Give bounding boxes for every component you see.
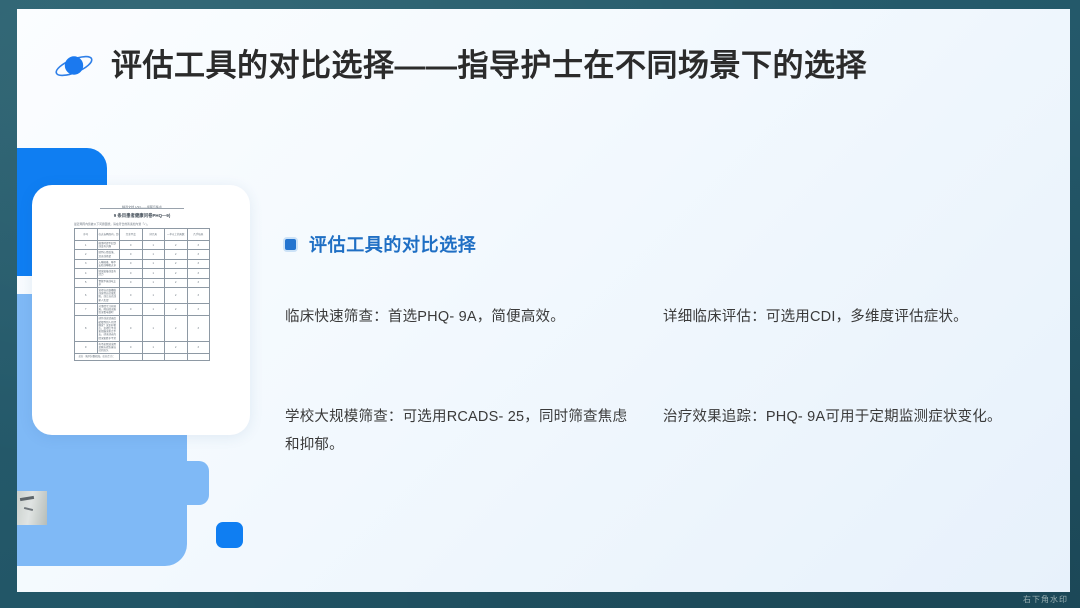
- thumbnail-cell-score: 0: [120, 316, 143, 341]
- thumbnail-cell-index: 3: [75, 259, 98, 268]
- thumbnail-cell-score: 0: [120, 250, 143, 259]
- planet-orbit-icon: [53, 49, 95, 83]
- section-heading: 评估工具的对比选择: [309, 231, 476, 257]
- thumbnail-cell-score: 1: [142, 316, 165, 341]
- thumbnail-cell-score: 3: [187, 241, 210, 250]
- thumbnail-col-s2: 一半以上的天数: [165, 229, 188, 241]
- point-clinical-screening: 临床快速筛查：首选PHQ- 9A，简便高效。: [285, 303, 637, 331]
- thumbnail-cell-score: 3: [187, 278, 210, 287]
- content-column: 评估工具的对比选择 临床快速筛查：首选PHQ- 9A，简便高效。 详细临床评估：…: [285, 231, 1045, 459]
- thumbnail-cell-score: 0: [120, 269, 143, 278]
- thumbnail-cell-score: 0: [120, 278, 143, 287]
- thumbnail-cell-score: 2: [165, 303, 188, 316]
- thumbnail-table-row: 9有不如死掉或用某种方式伤害自己的念头0123: [75, 341, 210, 354]
- thumbnail-cell-score: 2: [165, 241, 188, 250]
- thumbnail-cell-score: 2: [165, 269, 188, 278]
- thumbnail-cell-score: 3: [187, 303, 210, 316]
- thumbnail-cell-score: 2: [165, 278, 188, 287]
- thumbnail-table-row: 8动作或说话速度缓慢到别人已经察觉？或正好相反，变得比平日更烦躁或坐立不安，动来…: [75, 316, 210, 341]
- thumbnail-table-row: 4感觉疲倦或没有活力0123: [75, 269, 210, 278]
- thumbnail-cell-score: 3: [187, 288, 210, 304]
- thumbnail-cell-score: 3: [187, 250, 210, 259]
- thumbnail-table-row: 3入睡困难、睡不安稳或睡眠过多0123: [75, 259, 210, 268]
- thumbnail-table-body: 1做事时提不起劲或没有兴趣01232感到心情低落、沮丧或绝望01233入睡困难、…: [75, 241, 210, 361]
- thumbnail-total-cell: [187, 354, 210, 360]
- thumbnail-cell-item: 感觉疲倦或没有活力: [97, 269, 120, 278]
- thumbnail-cell-score: 2: [165, 288, 188, 304]
- slide-title-row: 评估工具的对比选择——指导护士在不同场景下的选择: [53, 49, 867, 83]
- thumbnail-cell-score: 1: [142, 269, 165, 278]
- questionnaire-thumbnail[interactable]: 精选文档 1/93——抑郁与焦虑 9 条目患者健康问卷PHQ—9) 最近两周内您…: [66, 205, 218, 375]
- thumbnail-col-s0: 完全不会: [120, 229, 143, 241]
- thumbnail-cell-score: 0: [120, 241, 143, 250]
- thumbnail-doc-table: 序号 在过去两周内，您有多少时间受到以下问题的困扰？ 完全不会 好几天 一半以上…: [74, 228, 210, 361]
- thumbnail-total-cell: [165, 354, 188, 360]
- thumbnail-cell-score: 1: [142, 250, 165, 259]
- points-grid: 临床快速筛查：首选PHQ- 9A，简便高效。 详细临床评估：可选用CDI，多维度…: [285, 303, 1045, 459]
- thumbnail-cell-score: 1: [142, 259, 165, 268]
- thumbnail-table-row: 1做事时提不起劲或没有兴趣0123: [75, 241, 210, 250]
- thumbnail-table-row: 6觉得自己很糟糕或觉得自己很失败，或让自己或家人失望0123: [75, 288, 210, 304]
- thumbnail-col-item: 在过去两周内，您有多少时间受到以下问题的困扰？: [97, 229, 120, 241]
- thumbnail-cell-item: 觉得自己很糟糕或觉得自己很失败，或让自己或家人失望: [97, 288, 120, 304]
- presentation-backdrop: 精选文档 1/93——抑郁与焦虑 9 条目患者健康问卷PHQ—9) 最近两周内您…: [0, 0, 1080, 608]
- thumbnail-cell-score: 3: [187, 259, 210, 268]
- thumbnail-table-head: 序号 在过去两周内，您有多少时间受到以下问题的困扰？ 完全不会 好几天 一半以上…: [75, 229, 210, 241]
- point-treatment-tracking: 治疗效果追踪：PHQ- 9A可用于定期监测症状变化。: [663, 403, 1041, 459]
- thumbnail-cell-score: 2: [165, 259, 188, 268]
- thumbnail-col-idx: 序号: [75, 229, 98, 241]
- thumbnail-total-cell: [142, 354, 165, 360]
- thumbnail-total-label: 总分（每列分数相加，总分合计）：: [75, 354, 120, 360]
- thumbnail-cell-item: 感到心情低落、沮丧或绝望: [97, 250, 120, 259]
- thumbnail-cell-item: 食欲不振或吃太多: [97, 278, 120, 287]
- thumbnail-cell-item: 有不如死掉或用某种方式伤害自己的念头: [97, 341, 120, 354]
- thumbnail-cell-score: 1: [142, 278, 165, 287]
- thumbnail-cell-item: 做事时提不起劲或没有兴趣: [97, 241, 120, 250]
- thumbnail-cell-index: 7: [75, 303, 98, 316]
- thumbnail-cell-score: 1: [142, 288, 165, 304]
- slide-canvas: 精选文档 1/93——抑郁与焦虑 9 条目患者健康问卷PHQ—9) 最近两周内您…: [17, 9, 1070, 592]
- thumbnail-cell-score: 0: [120, 259, 143, 268]
- thumbnail-col-s1: 好几天: [142, 229, 165, 241]
- thumbnail-cell-index: 2: [75, 250, 98, 259]
- thumbnail-cell-index: 1: [75, 241, 98, 250]
- thumbnail-col-s3: 几乎每天: [187, 229, 210, 241]
- thumbnail-cell-score: 0: [120, 303, 143, 316]
- watermark: 右下角水印: [1023, 594, 1068, 605]
- point-detailed-assessment: 详细临床评估：可选用CDI，多维度评估症状。: [663, 303, 1041, 331]
- point-school-screening: 学校大规模筛查：可选用RCADS- 25，同时筛查焦虑和抑郁。: [285, 403, 637, 459]
- thumbnail-cell-score: 1: [142, 303, 165, 316]
- thumbnail-cell-score: 0: [120, 288, 143, 304]
- thumbnail-total-row: 总分（每列分数相加，总分合计）：: [75, 354, 210, 360]
- thumbnail-table-row: 2感到心情低落、沮丧或绝望0123: [75, 250, 210, 259]
- thumbnail-table-row: 5食欲不振或吃太多0123: [75, 278, 210, 287]
- thumbnail-cell-item: 动作或说话速度缓慢到别人已经察觉？或正好相反，变得比平日更烦躁或坐立不安，动来动…: [97, 316, 120, 341]
- thumbnail-cell-score: 3: [187, 269, 210, 278]
- thumbnail-cell-score: 0: [120, 341, 143, 354]
- decor-blue-square-accent: [216, 522, 243, 548]
- thumbnail-cell-index: 6: [75, 288, 98, 304]
- thumbnail-cell-index: 8: [75, 316, 98, 341]
- thumbnail-cell-score: 2: [165, 250, 188, 259]
- thumbnail-doc-title: 9 条目患者健康问卷PHQ—9): [66, 212, 218, 219]
- thumbnail-cell-score: 3: [187, 341, 210, 354]
- thumbnail-cell-index: 4: [75, 269, 98, 278]
- thumbnail-cell-item: 对事情专注有困难，例如阅读报纸或看电视时: [97, 303, 120, 316]
- page-title: 评估工具的对比选择——指导护士在不同场景下的选择: [111, 49, 867, 83]
- decor-light-blue-tab: [167, 461, 209, 505]
- square-bullet-icon: [285, 239, 296, 250]
- thumbnail-cell-score: 2: [165, 316, 188, 341]
- thumbnail-cell-score: 1: [142, 241, 165, 250]
- thumbnail-cell-index: 9: [75, 341, 98, 354]
- thumbnail-header-row: 序号 在过去两周内，您有多少时间受到以下问题的困扰？ 完全不会 好几天 一半以上…: [75, 229, 210, 241]
- thumbnail-cell-index: 5: [75, 278, 98, 287]
- thumbnail-header-line: 精选文档 1/93——抑郁与焦虑: [100, 205, 184, 209]
- thumbnail-cell-score: 3: [187, 316, 210, 341]
- decor-edge-artifact: [17, 491, 47, 525]
- thumbnail-cell-score: 1: [142, 341, 165, 354]
- thumbnail-table-row: 7对事情专注有困难，例如阅读报纸或看电视时0123: [75, 303, 210, 316]
- thumbnail-doc-intro: 最近两周内您被以下问题困扰，请在符合的答案栏内划「√」。: [66, 222, 218, 226]
- thumbnail-cell-item: 入睡困难、睡不安稳或睡眠过多: [97, 259, 120, 268]
- section-heading-row: 评估工具的对比选择: [285, 231, 1045, 257]
- thumbnail-cell-score: 2: [165, 341, 188, 354]
- thumbnail-total-cell: [120, 354, 143, 360]
